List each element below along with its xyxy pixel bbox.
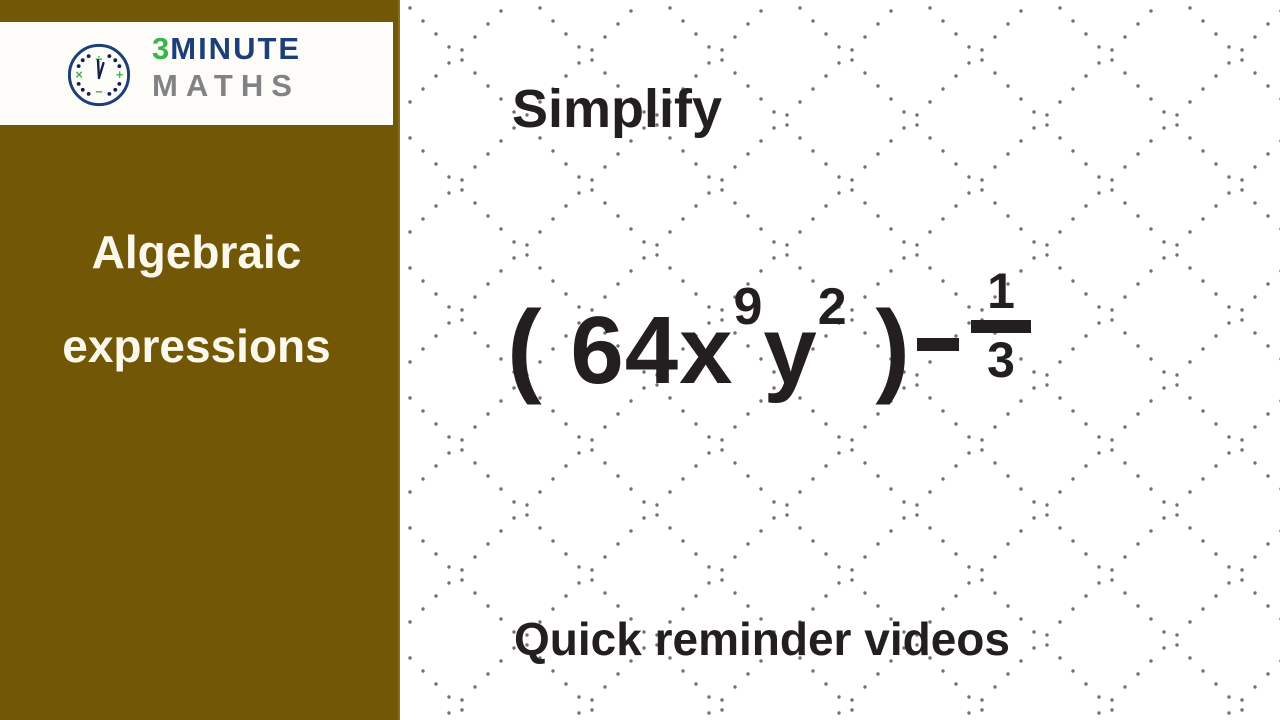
sidebar-title: Algebraic expressions — [0, 205, 393, 393]
outer-exponent: 1 3 — [917, 262, 1031, 385]
prompt-simplify: Simplify — [512, 78, 722, 140]
left-brand-panel: ÷ + − × 3MINUTE MATHS Algebraic expressi… — [0, 0, 400, 720]
slide-canvas: ÷ + − × 3MINUTE MATHS Algebraic expressi… — [0, 0, 1280, 720]
exponent-fraction: 1 3 — [971, 266, 1031, 385]
maths-clock-icon: ÷ + − × — [50, 38, 148, 112]
fraction-numerator: 1 — [987, 266, 1015, 316]
wordmark-maths: MATHS — [152, 68, 387, 104]
sidebar-title-line1: Algebraic — [0, 205, 393, 299]
logo-band: ÷ + − × 3MINUTE MATHS — [0, 22, 393, 125]
sidebar-title-line2: expressions — [0, 299, 393, 393]
open-paren: ( — [507, 290, 543, 406]
footer-tagline: Quick reminder videos — [514, 612, 1010, 666]
equation-body: ( 64x9y2 ) — [507, 262, 911, 399]
main-content-area: Simplify ( 64x9y2 ) 1 3 Quick reminder v… — [402, 0, 1280, 720]
coefficient: 64 — [570, 297, 679, 404]
svg-text:×: × — [75, 68, 82, 82]
equation-expression: ( 64x9y2 ) 1 3 — [507, 262, 1031, 399]
wordmark: 3MINUTE MATHS — [152, 32, 387, 118]
svg-text:+: + — [116, 68, 123, 82]
var-y-base: y — [763, 297, 817, 404]
var-y-exponent: 2 — [818, 278, 848, 336]
svg-text:−: − — [95, 85, 102, 99]
close-paren: ) — [875, 290, 911, 406]
wordmark-minute: MINUTE — [170, 31, 301, 66]
wordmark-line-minute: 3MINUTE — [152, 32, 387, 66]
exponent-minus-sign — [917, 338, 959, 351]
wordmark-number: 3 — [152, 31, 170, 66]
var-x-base: x — [679, 297, 733, 404]
var-x-exponent: 9 — [733, 278, 763, 336]
fraction-denominator: 3 — [987, 335, 1015, 385]
